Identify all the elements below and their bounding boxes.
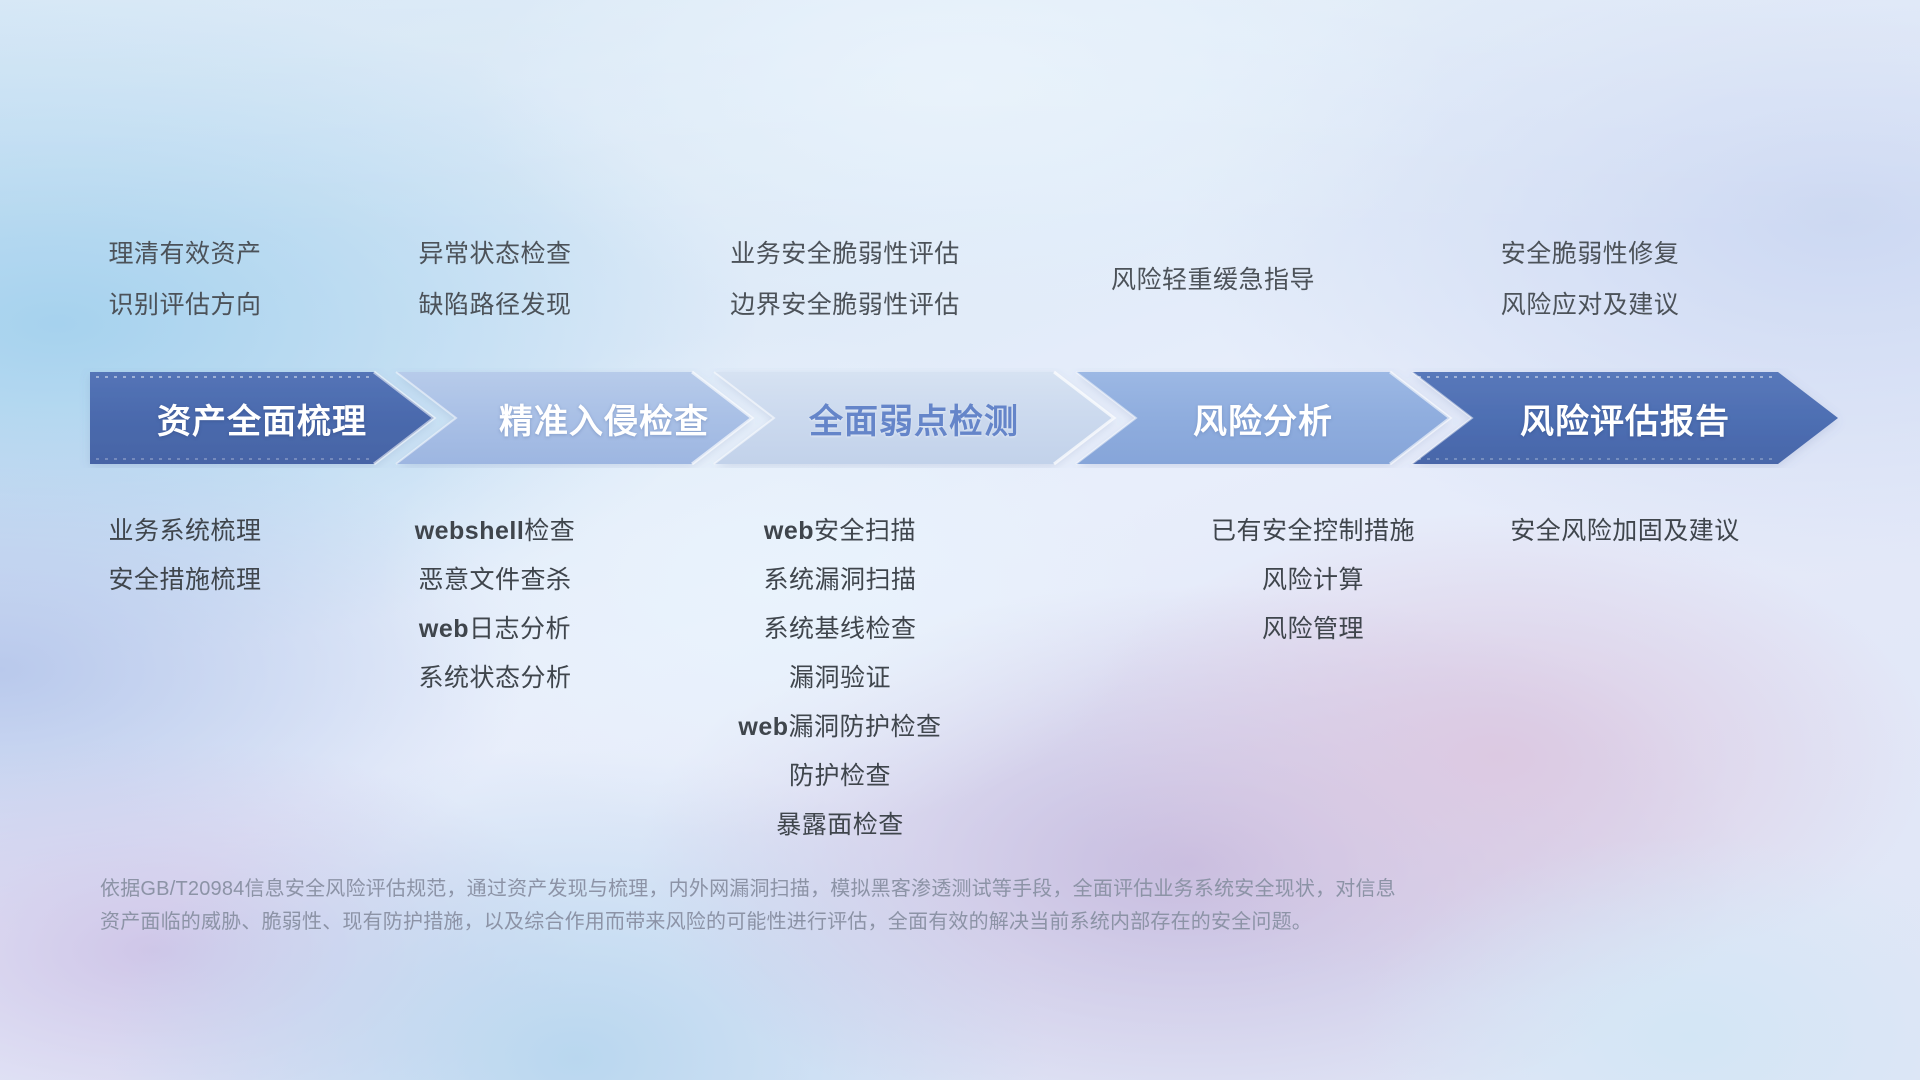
- bottom-item: webshell检查: [370, 507, 620, 556]
- bottom-item: 系统状态分析: [370, 654, 620, 703]
- bottom-item: 风险管理: [1163, 605, 1463, 654]
- footer-line-1: 依据GB/T20984信息安全风险评估规范，通过资产发现与梳理，内外网漏洞扫描，…: [100, 873, 1660, 906]
- bottom-items-risk-analysis: 已有安全控制措施 风险计算 风险管理: [1163, 507, 1463, 654]
- bottom-item: web安全扫描: [690, 507, 990, 556]
- top-item: 识别评估方向: [60, 280, 310, 331]
- bottom-item: 系统漏洞扫描: [690, 556, 990, 605]
- stage-title: 精准入侵检查: [499, 394, 709, 443]
- bottom-item: 暴露面检查: [690, 801, 990, 850]
- bottom-item: 安全措施梳理: [60, 556, 310, 605]
- top-item: 边界安全脆弱性评估: [690, 280, 1000, 331]
- stage-label-risk-analysis[interactable]: 风险分析: [1136, 368, 1390, 468]
- bottom-item: 恶意文件查杀: [370, 556, 620, 605]
- top-item: 理清有效资产: [60, 229, 310, 280]
- top-items-weakness-detection: 业务安全脆弱性评估 边界安全脆弱性评估: [690, 229, 1000, 331]
- top-items-asset-inventory: 理清有效资产 识别评估方向: [60, 229, 310, 331]
- bottom-item: 业务系统梳理: [60, 507, 310, 556]
- bold-term: webshell: [415, 517, 525, 545]
- stage-title: 资产全面梳理: [157, 394, 367, 443]
- stage-title: 风险评估报告: [1520, 394, 1730, 443]
- bottom-items-assessment-report: 安全风险加固及建议: [1470, 507, 1780, 556]
- top-items-intrusion-check: 异常状态检查 缺陷路径发现: [370, 229, 620, 331]
- bottom-item: 防护检查: [690, 752, 990, 801]
- bottom-items-asset-inventory: 业务系统梳理 安全措施梳理: [60, 507, 310, 605]
- stage-label-asset-inventory[interactable]: 资产全面梳理: [90, 368, 434, 468]
- stage-label-weakness-detection[interactable]: 全面弱点检测: [774, 368, 1054, 468]
- bold-term: web: [419, 615, 469, 643]
- bottom-item: 安全风险加固及建议: [1470, 507, 1780, 556]
- stage-label-assessment-report[interactable]: 风险评估报告: [1472, 368, 1778, 468]
- top-items-risk-analysis: 风险轻重缓急指导: [1063, 255, 1363, 306]
- top-item: 风险轻重缓急指导: [1063, 255, 1363, 306]
- top-item: 缺陷路径发现: [370, 280, 620, 331]
- bottom-items-weakness-detection: web安全扫描 系统漏洞扫描 系统基线检查 漏洞验证 web漏洞防护检查 防护检…: [690, 507, 990, 850]
- top-items-assessment-report: 安全脆弱性修复 风险应对及建议: [1440, 229, 1740, 331]
- stage-title: 风险分析: [1193, 394, 1333, 443]
- bottom-item: 漏洞验证: [690, 654, 990, 703]
- bottom-item: 风险计算: [1163, 556, 1463, 605]
- top-item: 业务安全脆弱性评估: [690, 229, 1000, 280]
- top-item: 风险应对及建议: [1440, 280, 1740, 331]
- footer-line-2: 资产面临的威胁、脆弱性、现有防护措施，以及综合作用而带来风险的可能性进行评估，全…: [100, 906, 1660, 939]
- stage-title: 全面弱点检测: [809, 394, 1019, 443]
- bottom-items-intrusion-check: webshell检查 恶意文件查杀 web日志分析 系统状态分析: [370, 507, 620, 703]
- bold-term: web: [764, 517, 814, 545]
- footer-description: 依据GB/T20984信息安全风险评估规范，通过资产发现与梳理，内外网漏洞扫描，…: [100, 873, 1660, 939]
- bottom-item: 已有安全控制措施: [1163, 507, 1463, 556]
- top-item: 异常状态检查: [370, 229, 620, 280]
- stage-label-intrusion-check[interactable]: 精准入侵检查: [456, 368, 752, 468]
- bottom-item: web漏洞防护检查: [690, 703, 990, 752]
- bottom-item: web日志分析: [370, 605, 620, 654]
- top-item: 安全脆弱性修复: [1440, 229, 1740, 280]
- bottom-item: 系统基线检查: [690, 605, 990, 654]
- bold-term: web: [738, 713, 788, 741]
